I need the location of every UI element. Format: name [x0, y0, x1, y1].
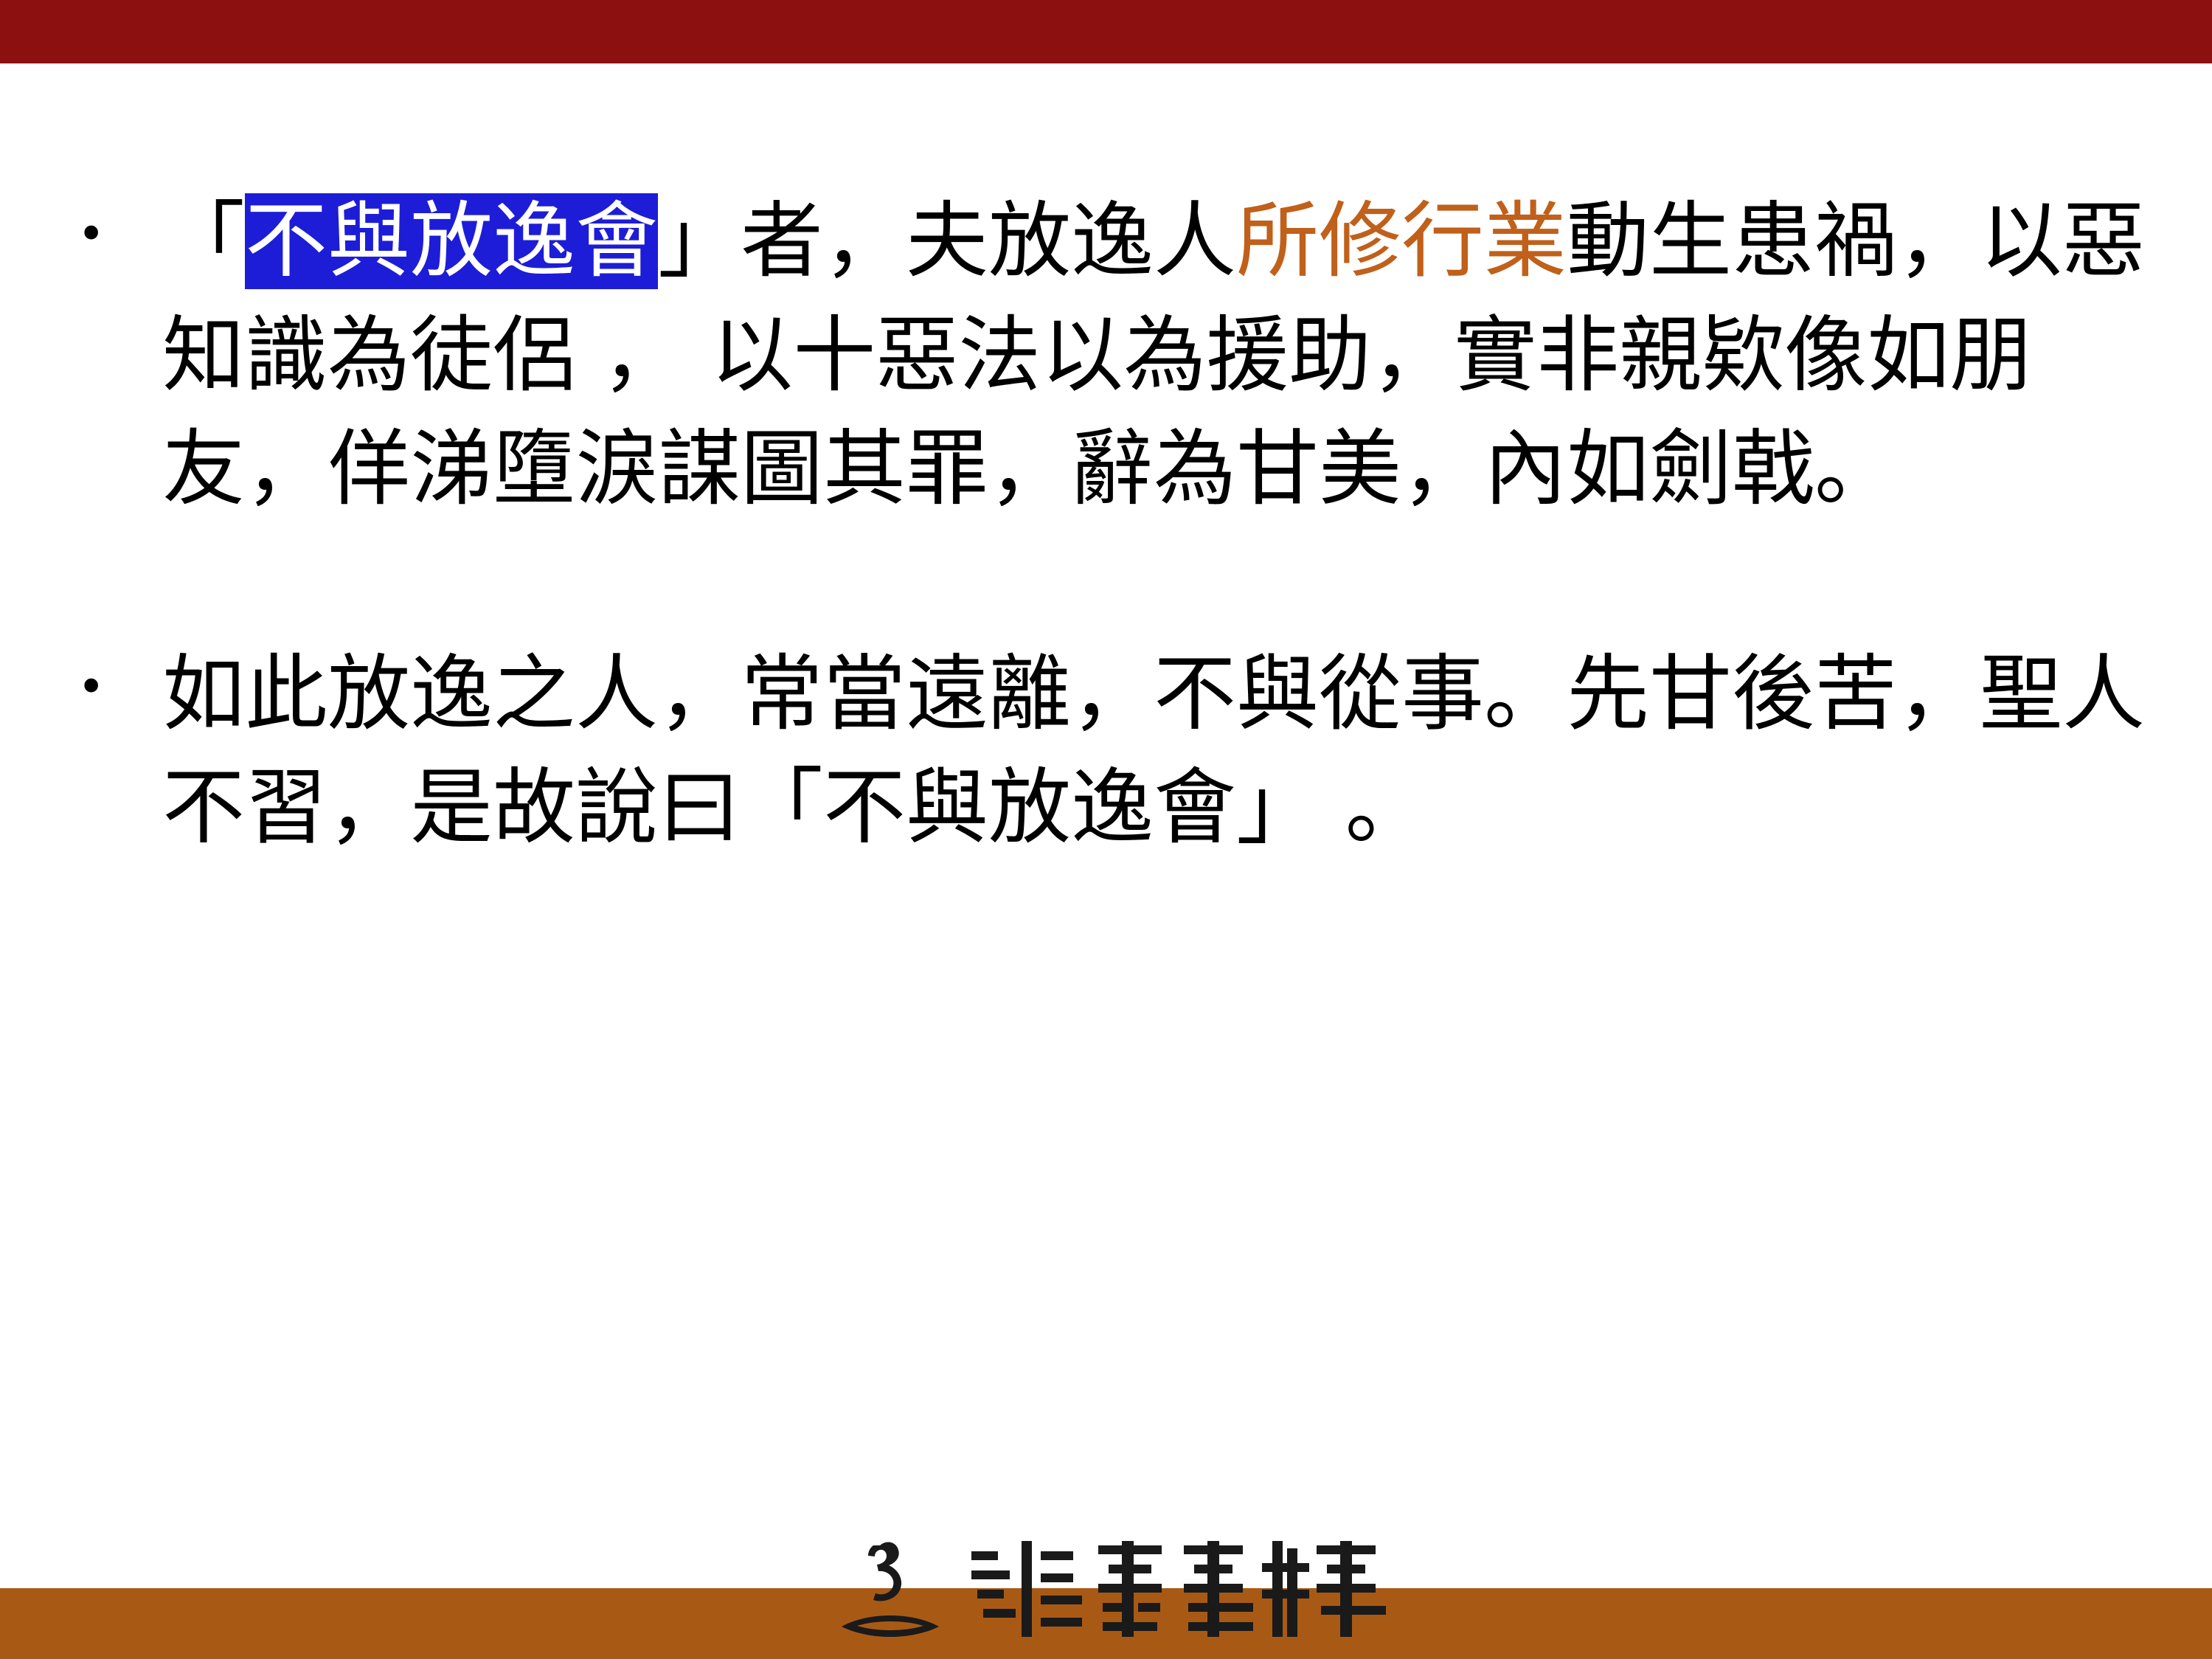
text-segment: 」者，夫放逸人: [658, 193, 1236, 289]
bullet-item: • 如此放逸之人，常當遠離，不與從事。先甘後苦，聖人不習，是故說曰「不與放逸會」…: [0, 637, 2212, 865]
jijing-chanlin-logo: [800, 1519, 1412, 1659]
bullet-item: • 「不與放逸會」者，夫放逸人所修行業動生患禍，以惡知識為徒侶 ， 以十惡法以為…: [0, 184, 2212, 527]
bullet-text: 如此放逸之人，常當遠離，不與從事。先甘後苦，聖人不習，是故說曰「不與放逸會」 。: [162, 637, 2168, 865]
slide-top-bar: [0, 0, 2212, 63]
bullet-marker: •: [81, 637, 162, 714]
accent-phrase: 所修行業: [1236, 193, 1567, 289]
bullet-text: 「不與放逸會」者，夫放逸人所修行業動生患禍，以惡知識為徒侶 ， 以十惡法以為援助…: [162, 184, 2168, 527]
text-segment: 如此放逸之人，常當遠離，不與從事。先甘後苦，聖人不習，是故說曰「不與放逸會」 。: [162, 646, 2145, 856]
bullet-marker: •: [81, 184, 162, 261]
slide-canvas: • 「不與放逸會」者，夫放逸人所修行業動生患禍，以惡知識為徒侶 ， 以十惡法以為…: [0, 0, 2212, 1659]
text-segment: 「: [162, 193, 245, 289]
highlighted-phrase: 不與放逸會: [245, 193, 658, 289]
paragraph-spacer: [0, 527, 2212, 637]
slide-body: • 「不與放逸會」者，夫放逸人所修行業動生患禍，以惡知識為徒侶 ， 以十惡法以為…: [0, 184, 2212, 865]
